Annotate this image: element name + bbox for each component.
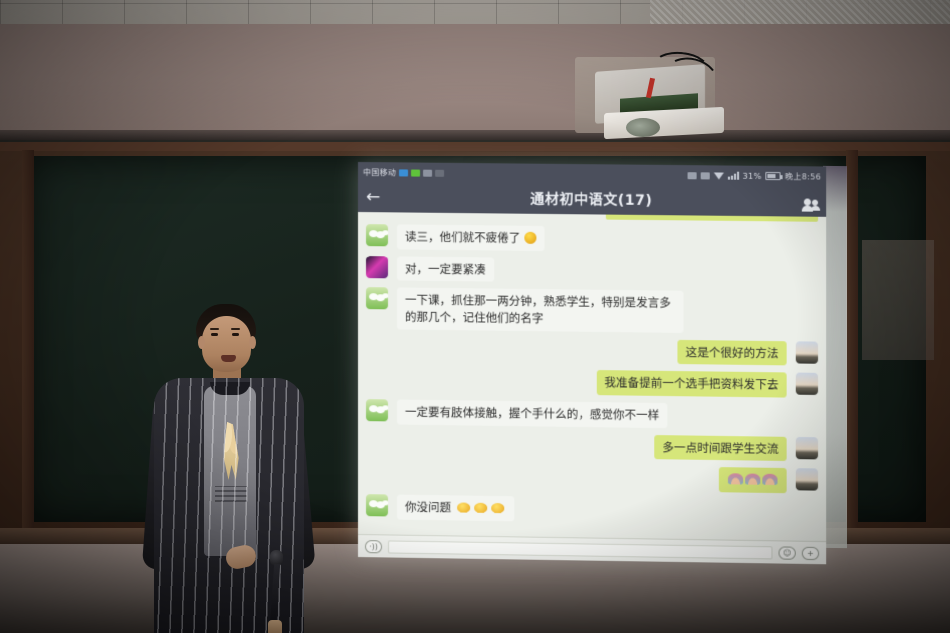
table-row: 多一点时间跟学生交流 [366, 431, 818, 462]
hd-icon [700, 172, 709, 179]
app-badge-icon [399, 169, 408, 176]
misc-badge-icon [435, 169, 444, 176]
presenter-eye-left [211, 333, 218, 336]
thumbs-up-emoji-icon [474, 503, 487, 513]
message-text: 你没问题 [405, 500, 455, 515]
message-text: 对，一定要紧凑 [405, 261, 486, 276]
presenter-ear-right [249, 336, 256, 349]
jacket-pinstripes [154, 378, 304, 633]
message-text: 一下课，抓住那一两分钟，熟悉学生，特别是发言多的那几个，记住他们的名字 [405, 293, 671, 325]
add-more-icon[interactable]: + [802, 546, 819, 559]
table-row: 你没问题 [366, 494, 818, 525]
status-left-group: 中国移动 [363, 167, 444, 179]
presenter-face [202, 316, 251, 372]
wifi-icon [713, 172, 723, 179]
table-row: 读三，他们就不疲倦了 [366, 224, 818, 254]
notification-badge-icon [423, 169, 432, 176]
presenter [118, 300, 358, 633]
group-members-icon[interactable] [804, 198, 818, 205]
projector-lens [626, 118, 660, 137]
table-row: 对，一定要紧凑 [366, 256, 818, 286]
presenter-brow-left [210, 328, 219, 330]
status-right-group: 31% 晚上8:56 [687, 170, 821, 182]
message-bubble-incoming[interactable]: 你没问题 [397, 495, 514, 521]
presenter-eye-right [232, 333, 239, 336]
group-avatar-primary [804, 198, 811, 205]
thumbs-up-emoji-icon [457, 502, 470, 512]
pray-emoji-icon [762, 474, 777, 485]
pray-emoji-icon [728, 474, 743, 485]
projected-phone-screen: 中国移动 31% 晚上8:56 ← 通材初中语文(17) [358, 162, 826, 564]
clock-label: 晚上8:56 [785, 171, 821, 182]
voice-input-icon[interactable]: ·)) [365, 540, 382, 553]
group-avatar-secondary [812, 199, 818, 205]
table-row [366, 462, 818, 493]
battery-percent-label: 31% [743, 171, 762, 180]
message-text: 我准备提前一个选手把资料发下去 [604, 376, 778, 392]
avatar[interactable] [366, 494, 388, 516]
emoji-icon[interactable]: ☺ [779, 546, 796, 559]
presenter-ear-left [198, 336, 205, 349]
thumbs-up-emoji-icon [491, 503, 504, 513]
message-bubble-incoming[interactable]: 读三，他们就不疲倦了 [397, 224, 544, 250]
avatar[interactable] [366, 224, 388, 246]
signal-bars-icon [727, 172, 738, 180]
table-row: 我准备提前一个选手把资料发下去 [366, 367, 818, 398]
table-row: 一定要有肢体接触，握个手什么的，感觉你不一样 [366, 399, 818, 430]
message-bubble-incoming[interactable]: 一下课，抓住那一两分钟，熟悉学生，特别是发言多的那几个，记住他们的名字 [397, 288, 683, 333]
presenter-brow-right [231, 328, 240, 330]
message-bubble-outgoing[interactable]: 多一点时间跟学生交流 [654, 435, 786, 462]
pray-emoji-icon [745, 474, 760, 485]
carrier-label: 中国移动 [363, 167, 396, 178]
avatar[interactable] [796, 373, 818, 395]
smile-emoji-icon [524, 232, 536, 244]
avatar[interactable] [366, 256, 388, 278]
message-bubble-outgoing[interactable]: 我准备提前一个选手把资料发下去 [596, 370, 786, 397]
message-text: 多一点时间跟学生交流 [662, 440, 778, 456]
message-text: 这是个很好的方法 [686, 345, 779, 360]
avatar[interactable] [366, 287, 388, 309]
alarm-icon [687, 172, 696, 179]
message-text: 一定要有肢体接触，握个手什么的，感觉你不一样 [405, 405, 659, 422]
avatar[interactable] [796, 469, 818, 491]
table-row: 一下课，抓住那一两分钟，熟悉学生，特别是发言多的那几个，记住他们的名字 [366, 287, 818, 334]
chat-title: 通材初中语文(17) [358, 187, 826, 212]
message-bubble-incoming[interactable]: 对，一定要紧凑 [397, 256, 494, 282]
chat-navbar: ← 通材初中语文(17) [358, 182, 826, 217]
chat-message-list[interactable]: 读三，他们就不疲倦了 对，一定要紧凑 一下课，抓住那一两分钟，熟悉学生，特别是发… [358, 212, 826, 541]
wall-poster [862, 240, 934, 360]
blackboard-divider-left [22, 150, 34, 532]
classroom-wall-upper [0, 24, 950, 142]
blackboard-divider-right [846, 150, 858, 532]
classroom-photo-scene: 中国移动 31% 晚上8:56 ← 通材初中语文(17) [0, 0, 950, 633]
microphone-grip [268, 620, 282, 633]
wechat-badge-icon [411, 169, 420, 176]
message-bubble-outgoing-emoji[interactable] [719, 467, 787, 493]
table-row: 这是个很好的方法 [366, 336, 818, 366]
avatar[interactable] [366, 399, 388, 421]
avatar[interactable] [796, 341, 818, 363]
avatar[interactable] [796, 437, 818, 459]
battery-icon [766, 172, 781, 180]
message-bubble-incoming[interactable]: 一定要有肢体接触，握个手什么的，感觉你不一样 [397, 400, 667, 428]
presenter-mouth [221, 355, 236, 362]
message-bubble-outgoing[interactable]: 这是个很好的方法 [677, 340, 786, 366]
message-text: 读三，他们就不疲倦了 [405, 229, 524, 244]
message-input[interactable] [388, 540, 772, 559]
projection-spill-right [823, 166, 847, 548]
